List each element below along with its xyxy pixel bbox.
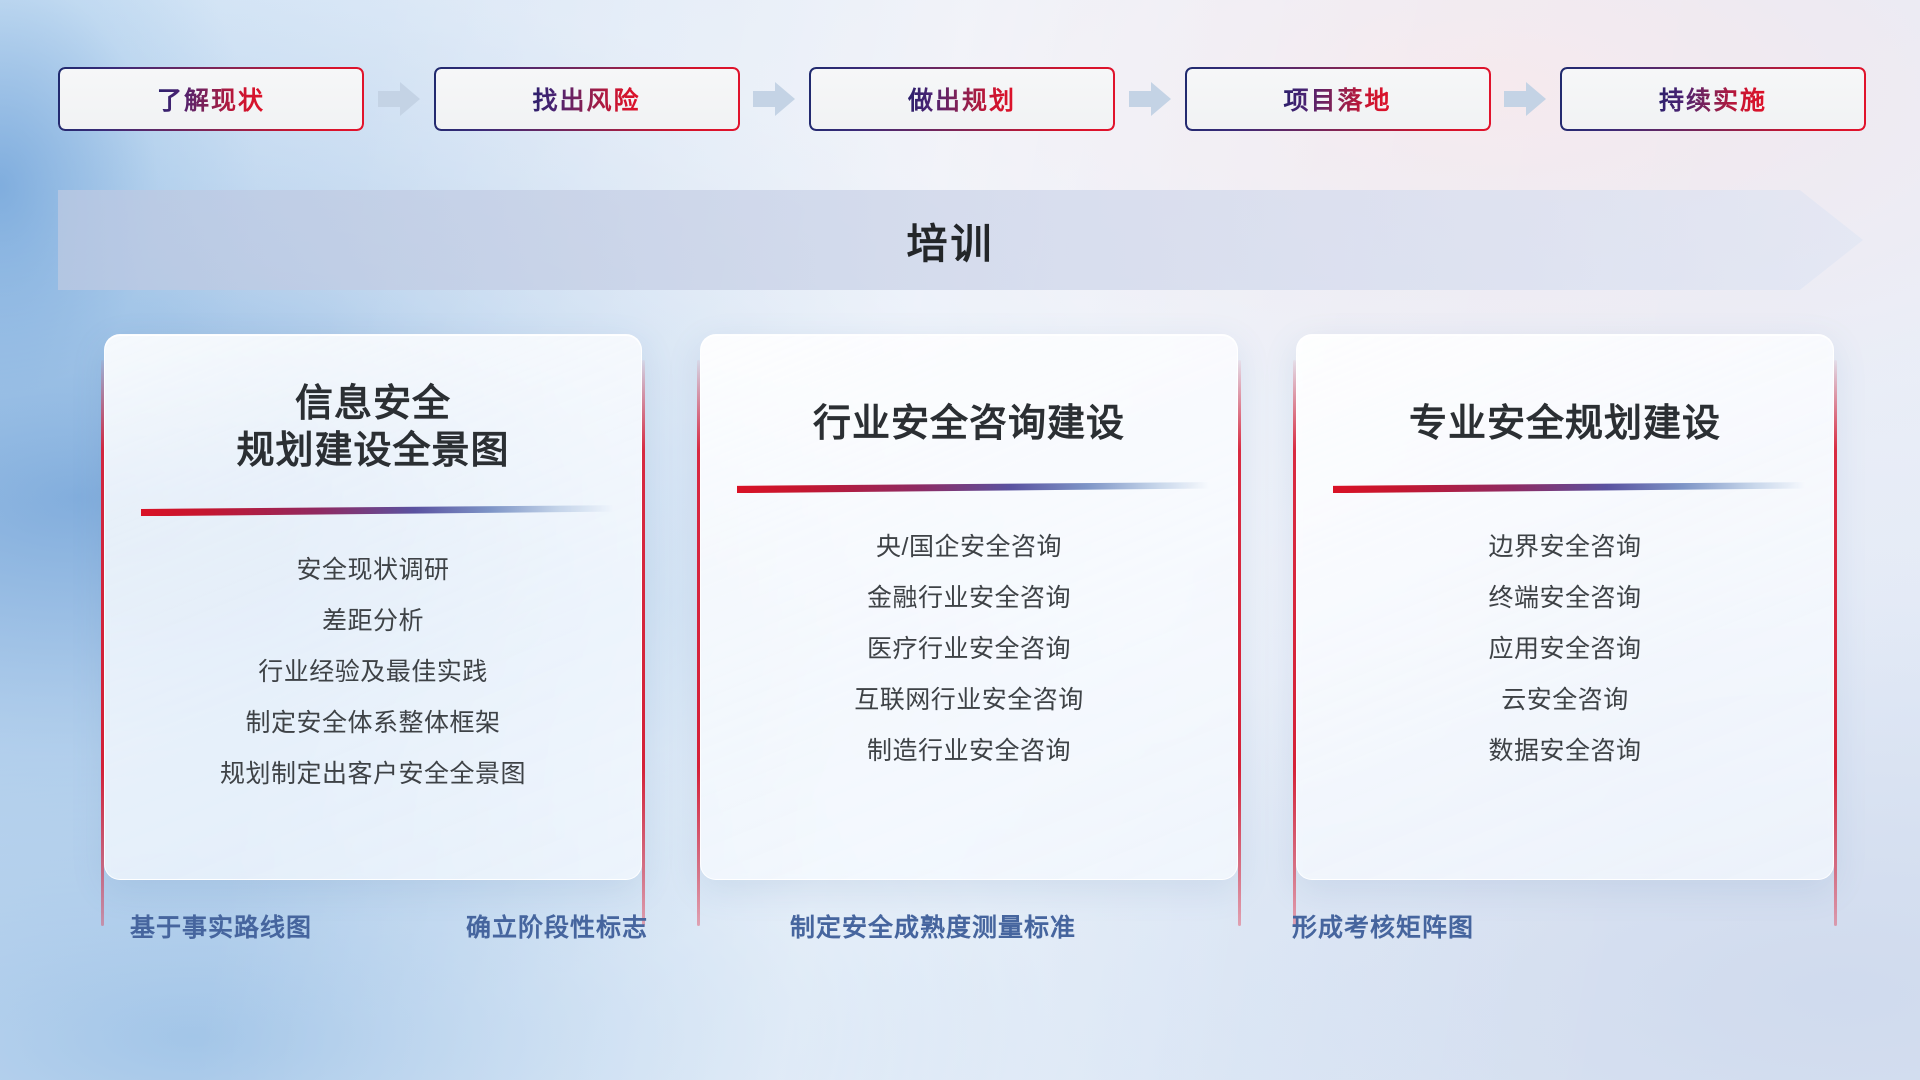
step-box-3[interactable]: 项目落地 [1185, 67, 1491, 131]
step-arrow-icon-1 [740, 79, 810, 119]
card-0-divider-wrap [127, 501, 619, 523]
step-inner-0: 了解现状 [60, 69, 362, 129]
list-item: 安全现状调研 [296, 549, 449, 592]
step-box-1[interactable]: 找出风险 [434, 67, 740, 131]
process-step-row: 了解现状 找出风险 做出规划 项目落地 [58, 66, 1866, 132]
card-1-title: 行业安全咨询建设 [813, 401, 1125, 448]
card-0[interactable]: 信息安全 规划建设全景图 安全现状调研 差距分析 行业经验及最佳实践 制定安全体… [104, 334, 642, 880]
card-1-body: 行业安全咨询建设 央/国企安全咨询 金融行业安全咨询 医疗行业安全咨询 互联网行… [700, 334, 1238, 880]
list-item: 差距分析 [322, 600, 424, 643]
list-item: 数据安全咨询 [1488, 730, 1641, 773]
step-arrow-icon-0 [364, 79, 434, 119]
card-2-title: 专业安全规划建设 [1409, 401, 1721, 448]
list-item: 规划制定出客户安全全景图 [220, 753, 526, 796]
list-item: 应用安全咨询 [1488, 628, 1641, 671]
card-0-divider [141, 505, 613, 516]
list-item: 云安全咨询 [1501, 679, 1629, 722]
list-item: 医疗行业安全咨询 [867, 628, 1071, 671]
bottom-label-row: 基于事实路线图 确立阶段性标志 制定安全成熟度测量标准 形成考核矩阵图 [0, 908, 1920, 954]
card-2-divider-wrap [1319, 478, 1811, 500]
card-0-right-accent [642, 360, 645, 926]
card-1-list: 央/国企安全咨询 金融行业安全咨询 医疗行业安全咨询 互联网行业安全咨询 制造行… [854, 526, 1084, 773]
step-box-0[interactable]: 了解现状 [58, 67, 364, 131]
card-0-title: 信息安全 规划建设全景图 [236, 381, 509, 475]
list-item: 制造行业安全咨询 [867, 730, 1071, 773]
card-1-right-accent [1238, 360, 1241, 926]
step-box-4[interactable]: 持续实施 [1560, 67, 1866, 131]
card-1-divider-wrap [723, 478, 1215, 500]
step-label-2: 做出规划 [908, 81, 1016, 117]
step-inner-4: 持续实施 [1562, 69, 1864, 129]
step-inner-2: 做出规划 [811, 69, 1113, 129]
bottom-label-2: 制定安全成熟度测量标准 [790, 908, 1076, 944]
list-item: 终端安全咨询 [1488, 577, 1641, 620]
card-row: 信息安全 规划建设全景图 安全现状调研 差距分析 行业经验及最佳实践 制定安全体… [104, 334, 1834, 880]
card-2[interactable]: 专业安全规划建设 边界安全咨询 终端安全咨询 应用安全咨询 云安全咨询 数据安全… [1296, 334, 1834, 880]
card-2-body: 专业安全规划建设 边界安全咨询 终端安全咨询 应用安全咨询 云安全咨询 数据安全… [1296, 334, 1834, 880]
step-label-3: 项目落地 [1283, 81, 1391, 117]
banner-title: 培训 [58, 190, 1863, 290]
bottom-label-1: 确立阶段性标志 [466, 908, 648, 944]
list-item: 互联网行业安全咨询 [854, 679, 1084, 722]
step-label-4: 持续实施 [1659, 81, 1767, 117]
card-2-divider [1333, 482, 1805, 493]
card-1-divider [737, 482, 1209, 493]
step-label-0: 了解现状 [157, 81, 265, 117]
card-2-list: 边界安全咨询 终端安全咨询 应用安全咨询 云安全咨询 数据安全咨询 [1488, 526, 1641, 773]
step-arrow-icon-2 [1115, 79, 1185, 119]
bottom-label-3: 形成考核矩阵图 [1292, 908, 1474, 944]
step-box-2[interactable]: 做出规划 [809, 67, 1115, 131]
list-item: 央/国企安全咨询 [876, 526, 1062, 569]
card-0-body: 信息安全 规划建设全景图 安全现状调研 差距分析 行业经验及最佳实践 制定安全体… [104, 334, 642, 880]
bottom-label-0: 基于事实路线图 [130, 908, 312, 944]
card-0-list: 安全现状调研 差距分析 行业经验及最佳实践 制定安全体系整体框架 规划制定出客户… [220, 549, 526, 796]
training-banner: 培训 [58, 190, 1863, 290]
step-label-1: 找出风险 [532, 81, 640, 117]
list-item: 行业经验及最佳实践 [258, 651, 488, 694]
step-inner-3: 项目落地 [1187, 69, 1489, 129]
step-inner-1: 找出风险 [436, 69, 738, 129]
list-item: 制定安全体系整体框架 [245, 702, 500, 745]
step-arrow-icon-3 [1491, 79, 1561, 119]
list-item: 边界安全咨询 [1488, 526, 1641, 569]
card-1[interactable]: 行业安全咨询建设 央/国企安全咨询 金融行业安全咨询 医疗行业安全咨询 互联网行… [700, 334, 1238, 880]
list-item: 金融行业安全咨询 [867, 577, 1071, 620]
card-2-right-accent [1834, 360, 1837, 926]
